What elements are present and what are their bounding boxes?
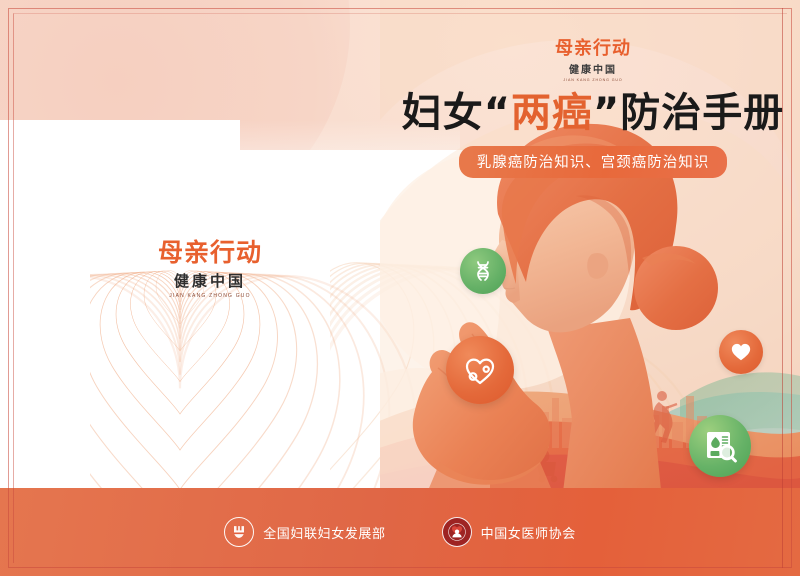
page-title-quote-close: ” <box>593 90 620 136</box>
footer-org-acwf: 全国妇联妇女发展部 <box>224 517 385 547</box>
badge-report <box>689 415 751 477</box>
badge-heart <box>719 330 763 374</box>
acwf-emblem-glyph <box>229 522 249 542</box>
badge-dna <box>460 248 506 294</box>
header-logo-name: 母亲行动 <box>543 40 643 58</box>
header-logo-tagline: 健康中国 <box>543 61 643 76</box>
watermark-logo-tagline: 健康中国 <box>150 270 270 291</box>
watermark-logo: 母亲行动 健康中国 JIAN KANG ZHONG GUO <box>150 240 270 299</box>
footer-org-cmwa: 中国女医师协会 <box>442 517 576 547</box>
footer-bar: 全国妇联妇女发展部 中国女医师协会 <box>0 488 800 576</box>
watermark-logo-pinyin: JIAN KANG ZHONG GUO <box>150 293 270 299</box>
watermark-logo-name: 母亲行动 <box>150 240 270 265</box>
header-logo-pinyin: JIAN KANG ZHONG GUO <box>543 78 643 82</box>
page-subtitle: 乳腺癌防治知识、宫颈癌防治知识 <box>459 146 728 178</box>
page-title-accent: 两癌 <box>511 90 593 136</box>
heart-icon <box>730 341 752 363</box>
page-title-prefix: 妇女 <box>402 90 484 136</box>
badge-stethoscope <box>446 336 514 404</box>
title-block: 母亲行动 健康中国 JIAN KANG ZHONG GUO 妇女“两癌”防治手册… <box>400 40 786 178</box>
report-magnifier-icon <box>702 428 738 464</box>
footer-org-acwf-label: 全国妇联妇女发展部 <box>263 523 385 542</box>
header-logo: 母亲行动 健康中国 JIAN KANG ZHONG GUO <box>543 40 643 82</box>
cover-spine-line <box>782 8 783 568</box>
page-title-suffix: 防治手册 <box>620 90 784 136</box>
cmwa-emblem-icon <box>442 517 472 547</box>
page-title-quote-open: “ <box>484 90 511 136</box>
cmwa-emblem-glyph <box>446 521 468 543</box>
dna-helix-icon <box>471 259 495 283</box>
book-cover: 母亲行动 健康中国 JIAN KANG ZHONG GUO 母亲行动 健康中国 … <box>0 0 800 576</box>
page-title: 妇女“两癌”防治手册 <box>400 92 786 134</box>
footer-org-cmwa-label: 中国女医师协会 <box>481 523 576 542</box>
acwf-emblem-icon <box>224 517 254 547</box>
heart-stethoscope-icon <box>461 351 499 389</box>
